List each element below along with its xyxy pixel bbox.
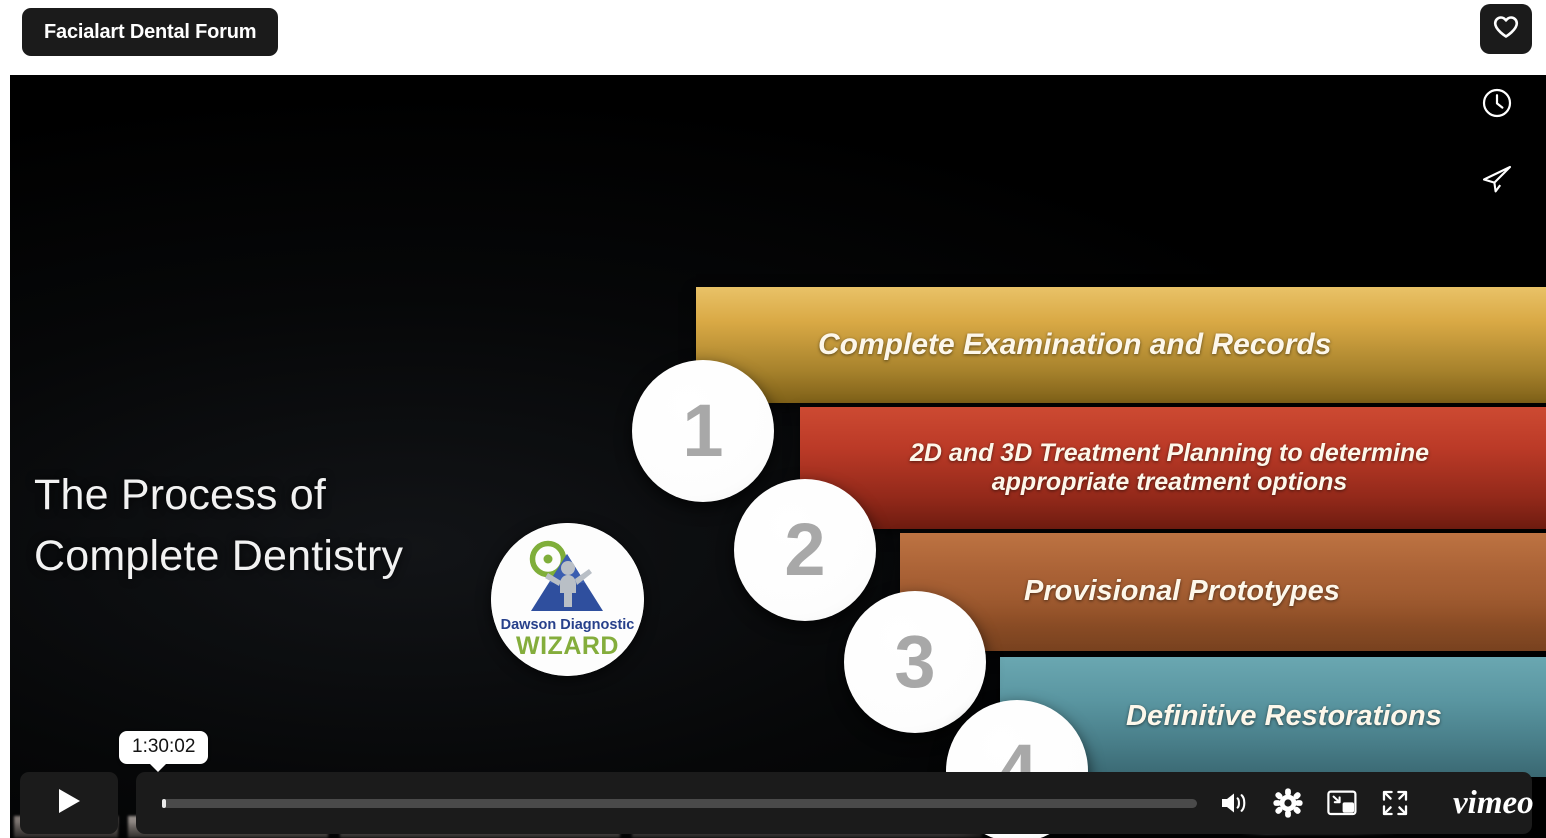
step-text-2: 2D and 3D Treatment Planning to determin… <box>800 439 1447 497</box>
video-stage[interactable]: The Process of Complete Dentistry <box>10 75 1546 838</box>
vimeo-logo[interactable]: vimeo <box>1453 784 1546 822</box>
fullscreen-icon[interactable] <box>1381 789 1409 817</box>
progress-scrubber[interactable] <box>162 799 1197 808</box>
settings-gear-icon[interactable] <box>1273 788 1303 818</box>
video-title-pill[interactable]: Facialart Dental Forum <box>22 8 278 56</box>
step-number-label-1: 1 <box>682 394 723 468</box>
step-number-3: 3 <box>844 591 986 733</box>
overlay-actions <box>1466 87 1528 195</box>
like-button[interactable] <box>1480 4 1532 54</box>
watch-later-icon[interactable] <box>1481 87 1513 119</box>
step-text-1: Complete Examination and Records <box>696 328 1349 363</box>
step-bar-3: Provisional Prototypes <box>900 533 1546 651</box>
video-slide: The Process of Complete Dentistry <box>10 75 1546 838</box>
control-panel: vimeo <box>136 772 1532 834</box>
progress-fill <box>162 799 166 808</box>
play-icon <box>54 785 84 822</box>
control-buttons: vimeo <box>1219 784 1546 822</box>
svg-text:vimeo: vimeo <box>1453 785 1534 821</box>
video-title-text: Facialart Dental Forum <box>44 21 256 44</box>
step-number-label-3: 3 <box>894 625 935 699</box>
play-button[interactable] <box>20 772 118 834</box>
step-number-1: 1 <box>632 360 774 502</box>
heart-icon <box>1493 15 1519 44</box>
step-number-label-2: 2 <box>784 513 825 587</box>
player-controls: vimeo 1:30:02 <box>0 770 1546 838</box>
process-steps: Complete Examination and Records 1 2D an… <box>10 75 1546 838</box>
vimeo-player-page: Facialart Dental Forum The Process of Co… <box>0 0 1546 838</box>
volume-icon[interactable] <box>1219 789 1249 817</box>
step-number-2: 2 <box>734 479 876 621</box>
player-header: Facialart Dental Forum <box>0 0 1546 75</box>
step-bar-1: Complete Examination and Records <box>696 287 1546 403</box>
step-text-3: Provisional Prototypes <box>900 575 1358 609</box>
step-bar-2: 2D and 3D Treatment Planning to determin… <box>800 407 1546 529</box>
duration-tooltip: 1:30:02 <box>119 731 208 764</box>
share-icon[interactable] <box>1480 163 1514 195</box>
picture-in-picture-icon[interactable] <box>1327 790 1357 816</box>
